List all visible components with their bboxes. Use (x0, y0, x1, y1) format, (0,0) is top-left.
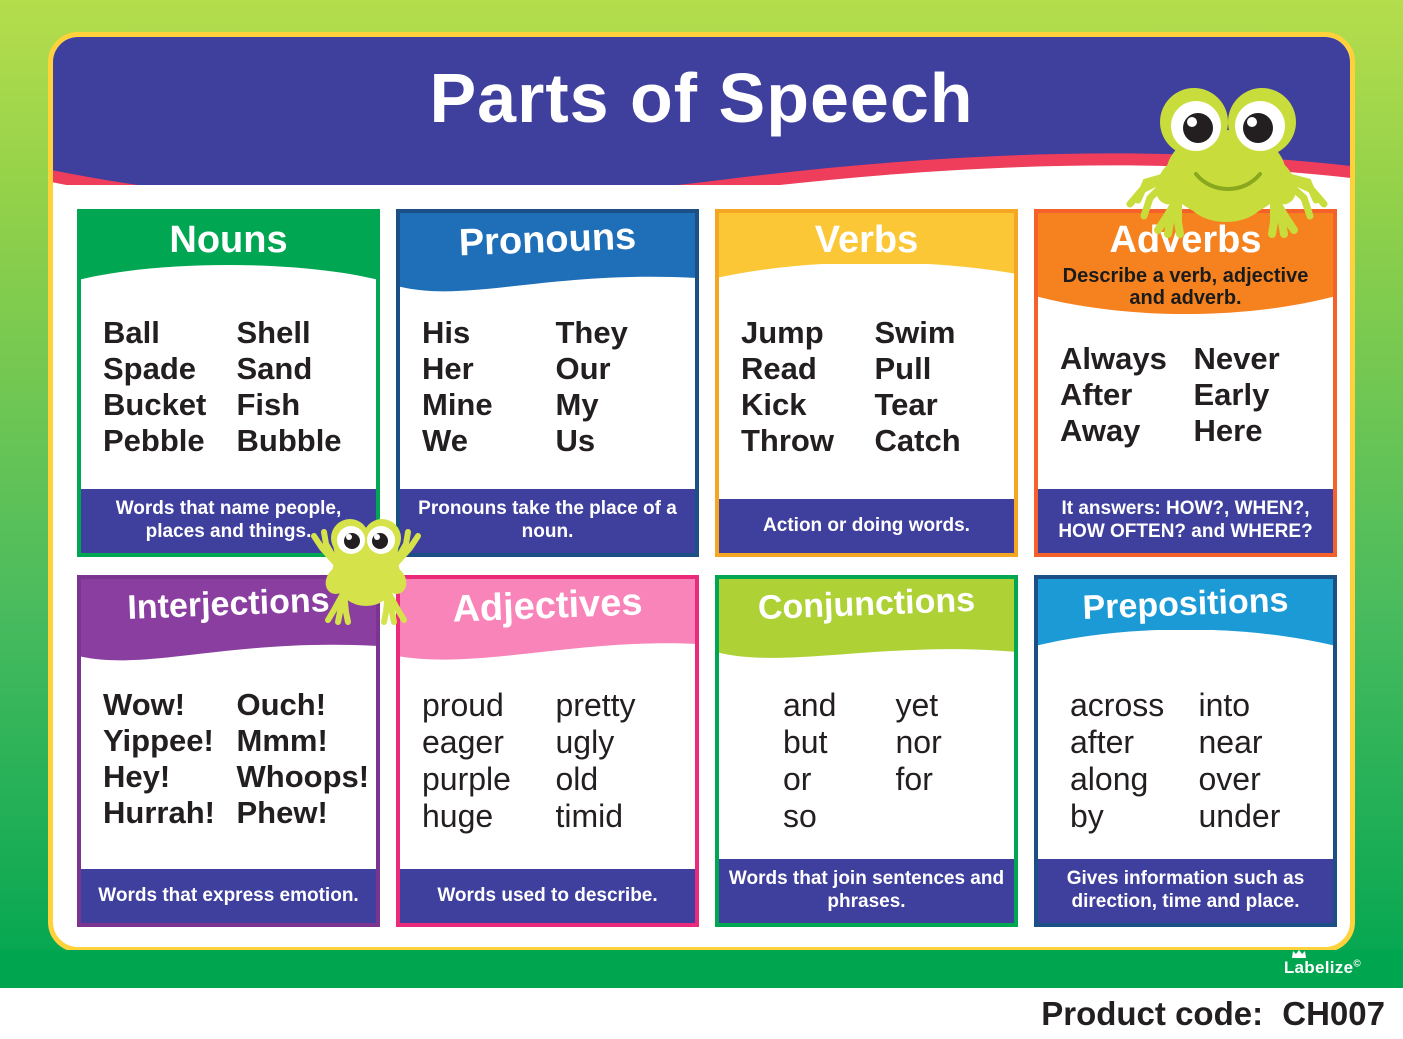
word: Wow! (103, 687, 237, 723)
word: across (1070, 687, 1199, 724)
word: pretty (556, 687, 690, 724)
header-wave (81, 630, 376, 671)
word: Mmm! (237, 723, 371, 759)
word: Always (1060, 341, 1194, 377)
card-header-adverbs: Adverbs Describe a verb, adjective and a… (1038, 213, 1333, 331)
word-list-nouns: Ball Shell Spade Sand Bucket Fish Pebble… (81, 305, 376, 489)
card-grid: Nouns Ball Shell Spade Sand Bucket Fish … (77, 209, 1337, 927)
word: for (896, 761, 1009, 798)
card-header-prepositions: Prepositions (1038, 579, 1333, 671)
card-title-conjunctions: Conjunctions (719, 581, 1014, 628)
card-footer-nouns: Words that name people, places and thing… (81, 489, 376, 553)
word: under (1199, 798, 1328, 835)
card-subtitle-adverbs: Describe a verb, adjective and adverb. (1044, 265, 1327, 310)
word: purple (422, 761, 556, 798)
word: Ouch! (237, 687, 371, 723)
word: or (783, 761, 896, 798)
card-nouns[interactable]: Nouns Ball Shell Spade Sand Bucket Fish … (77, 209, 380, 557)
word: Tear (875, 387, 1009, 423)
word: Swim (875, 315, 1009, 351)
header-wave (400, 630, 695, 671)
word-list-conjunctions: and yet but nor or for so (719, 671, 1014, 859)
card-title-nouns: Nouns (81, 221, 376, 261)
word: They (556, 315, 690, 351)
card-title-adverbs: Adverbs (1038, 221, 1333, 261)
card-title-pronouns: Pronouns (400, 215, 695, 266)
card-footer-pronouns: Pronouns take the place of a noun. (400, 489, 695, 553)
card-footer-adverbs: It answers: HOW?, WHEN?, HOW OFTEN? and … (1038, 489, 1333, 553)
card-title-interjections: Interjections (81, 581, 376, 628)
word: Jump (741, 315, 875, 351)
card-footer-conjunctions: Words that join sentences and phrases. (719, 859, 1014, 923)
word-empty (896, 798, 1009, 835)
word: eager (422, 724, 556, 761)
word: Spade (103, 351, 237, 387)
word: along (1070, 761, 1199, 798)
card-header-verbs: Verbs (719, 213, 1014, 305)
word: by (1070, 798, 1199, 835)
word: timid (556, 798, 690, 835)
header-wave (1038, 630, 1333, 671)
word: Fish (237, 387, 371, 423)
word: Her (422, 351, 556, 387)
header-wave (400, 264, 695, 305)
word: into (1199, 687, 1328, 724)
word: Pull (875, 351, 1009, 387)
copyright-symbol: © (1353, 958, 1361, 969)
word-list-interjections: Wow! Ouch! Yippee! Mmm! Hey! Whoops! Hur… (81, 671, 376, 869)
card-footer-verbs: Action or doing words. (719, 499, 1014, 553)
poster-panel: Parts of Speech Nouns Ball Shell Spade S… (48, 32, 1355, 952)
word: Never (1194, 341, 1328, 377)
labelize-logo: Labelize© (1284, 958, 1361, 978)
card-verbs[interactable]: Verbs Jump Swim Read Pull Kick Tear Thro… (715, 209, 1018, 557)
word: Catch (875, 423, 1009, 459)
word-list-prepositions: across into after near along over by und… (1038, 671, 1333, 859)
word: but (783, 724, 896, 761)
word: old (556, 761, 690, 798)
header-wave (719, 630, 1014, 671)
word: Throw (741, 423, 875, 459)
word: Phew! (237, 795, 371, 831)
word: after (1070, 724, 1199, 761)
product-code-value: CH007 (1282, 995, 1385, 1032)
word: Bubble (237, 423, 371, 459)
card-prepositions[interactable]: Prepositions across into after near alon… (1034, 575, 1337, 927)
card-header-conjunctions: Conjunctions (719, 579, 1014, 671)
title-wave (53, 135, 1350, 185)
word: over (1199, 761, 1328, 798)
word: huge (422, 798, 556, 835)
card-header-nouns: Nouns (81, 213, 376, 305)
word: Us (556, 423, 690, 459)
word: and (783, 687, 896, 724)
word-list-pronouns: His They Her Our Mine My We Us (400, 305, 695, 489)
page-title: Parts of Speech (53, 63, 1350, 133)
word: Whoops! (237, 759, 371, 795)
word-list-adjectives: proud pretty eager ugly purple old huge … (400, 671, 695, 869)
card-title-verbs: Verbs (719, 221, 1014, 261)
card-footer-prepositions: Gives information such as direction, tim… (1038, 859, 1333, 923)
card-pronouns[interactable]: Pronouns His They Her Our Mine My We Us … (396, 209, 699, 557)
word: After (1060, 377, 1194, 413)
card-title-prepositions: Prepositions (1038, 581, 1333, 628)
word: near (1199, 724, 1328, 761)
card-adjectives[interactable]: Adjectives proud pretty eager ugly purpl… (396, 575, 699, 927)
header-wave (81, 264, 376, 305)
card-footer-adjectives: Words used to describe. (400, 869, 695, 923)
card-title-adjectives: Adjectives (400, 581, 695, 632)
card-conjunctions[interactable]: Conjunctions and yet but nor or for so W… (715, 575, 1018, 927)
card-adverbs[interactable]: Adverbs Describe a verb, adjective and a… (1034, 209, 1337, 557)
header-wave (719, 264, 1014, 305)
word-list-verbs: Jump Swim Read Pull Kick Tear Throw Catc… (719, 305, 1014, 499)
word: Our (556, 351, 690, 387)
word: Pebble (103, 423, 237, 459)
word: ugly (556, 724, 690, 761)
word: His (422, 315, 556, 351)
word: proud (422, 687, 556, 724)
crown-icon (1291, 949, 1307, 959)
footer-band (0, 950, 1403, 988)
word: Away (1060, 413, 1194, 449)
word: Mine (422, 387, 556, 423)
word: Read (741, 351, 875, 387)
word: We (422, 423, 556, 459)
word: My (556, 387, 690, 423)
word: Yippee! (103, 723, 237, 759)
word: Kick (741, 387, 875, 423)
card-header-adjectives: Adjectives (400, 579, 695, 671)
word-list-adverbs: Always Never After Early Away Here (1038, 331, 1333, 489)
word: nor (896, 724, 1009, 761)
word: Here (1194, 413, 1328, 449)
word: Shell (237, 315, 371, 351)
card-header-interjections: Interjections (81, 579, 376, 671)
word: Ball (103, 315, 237, 351)
word: Bucket (103, 387, 237, 423)
word: Sand (237, 351, 371, 387)
title-banner: Parts of Speech (53, 37, 1350, 185)
labelize-text: Labelize (1284, 958, 1353, 977)
word: Hey! (103, 759, 237, 795)
word: so (783, 798, 896, 835)
card-interjections[interactable]: Interjections Wow! Ouch! Yippee! Mmm! He… (77, 575, 380, 927)
word: yet (896, 687, 1009, 724)
product-code-label: Product code: (1041, 995, 1263, 1032)
word: Hurrah! (103, 795, 237, 831)
card-header-pronouns: Pronouns (400, 213, 695, 305)
word: Early (1194, 377, 1328, 413)
product-code: Product code: CH007 (1041, 995, 1385, 1033)
card-footer-interjections: Words that express emotion. (81, 869, 376, 923)
